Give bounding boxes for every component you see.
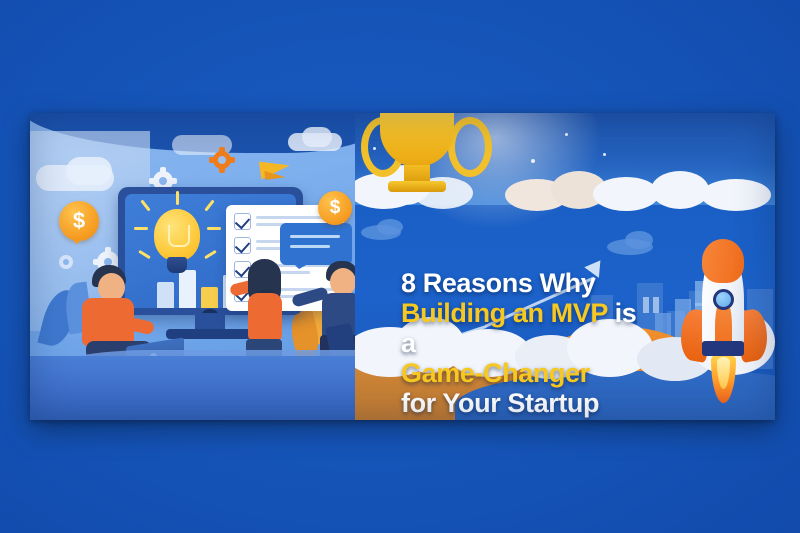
dollar-coin-icon: $ [59,201,99,241]
headline-line-1: 8 Reasons Why [401,268,651,298]
bulb-base [167,257,187,273]
cloud-shape [66,157,112,185]
bulb-filament [168,225,190,247]
dollar-coin-icon: $ [318,191,352,225]
cloud-shape [302,127,332,147]
headline-line-4: for Your Startup [401,388,651,418]
speech-bubble-icon [280,223,352,265]
gear-icon [210,148,234,172]
coin-tail [70,237,84,251]
bar-chart-bar [179,270,196,308]
gear-icon [57,253,75,271]
illustration-panel-left: $ [30,113,375,420]
headline-line-2-main: Building an MVP [401,298,608,328]
floor-band [30,356,375,420]
trophy-handle [448,117,492,177]
promo-banner: $ [30,113,775,420]
bulb-ray [176,191,179,205]
trophy-base [388,181,446,192]
headline-line-3: Game-Changer [401,358,651,388]
head [330,268,356,296]
bulb-ray [207,227,221,230]
checkbox-icon [234,237,251,254]
paper-plane-icon [258,153,297,184]
bar-chart-bar [201,287,218,308]
page-background: $ [0,0,800,533]
bar-chart-bar [157,282,174,308]
torso [248,293,282,341]
headline-block: 8 Reasons Why Building an MVP is a Game-… [401,268,651,418]
checkbox-icon [234,213,251,230]
headline-line-2: Building an MVP is a [401,298,651,358]
bulb-ray [134,227,148,230]
